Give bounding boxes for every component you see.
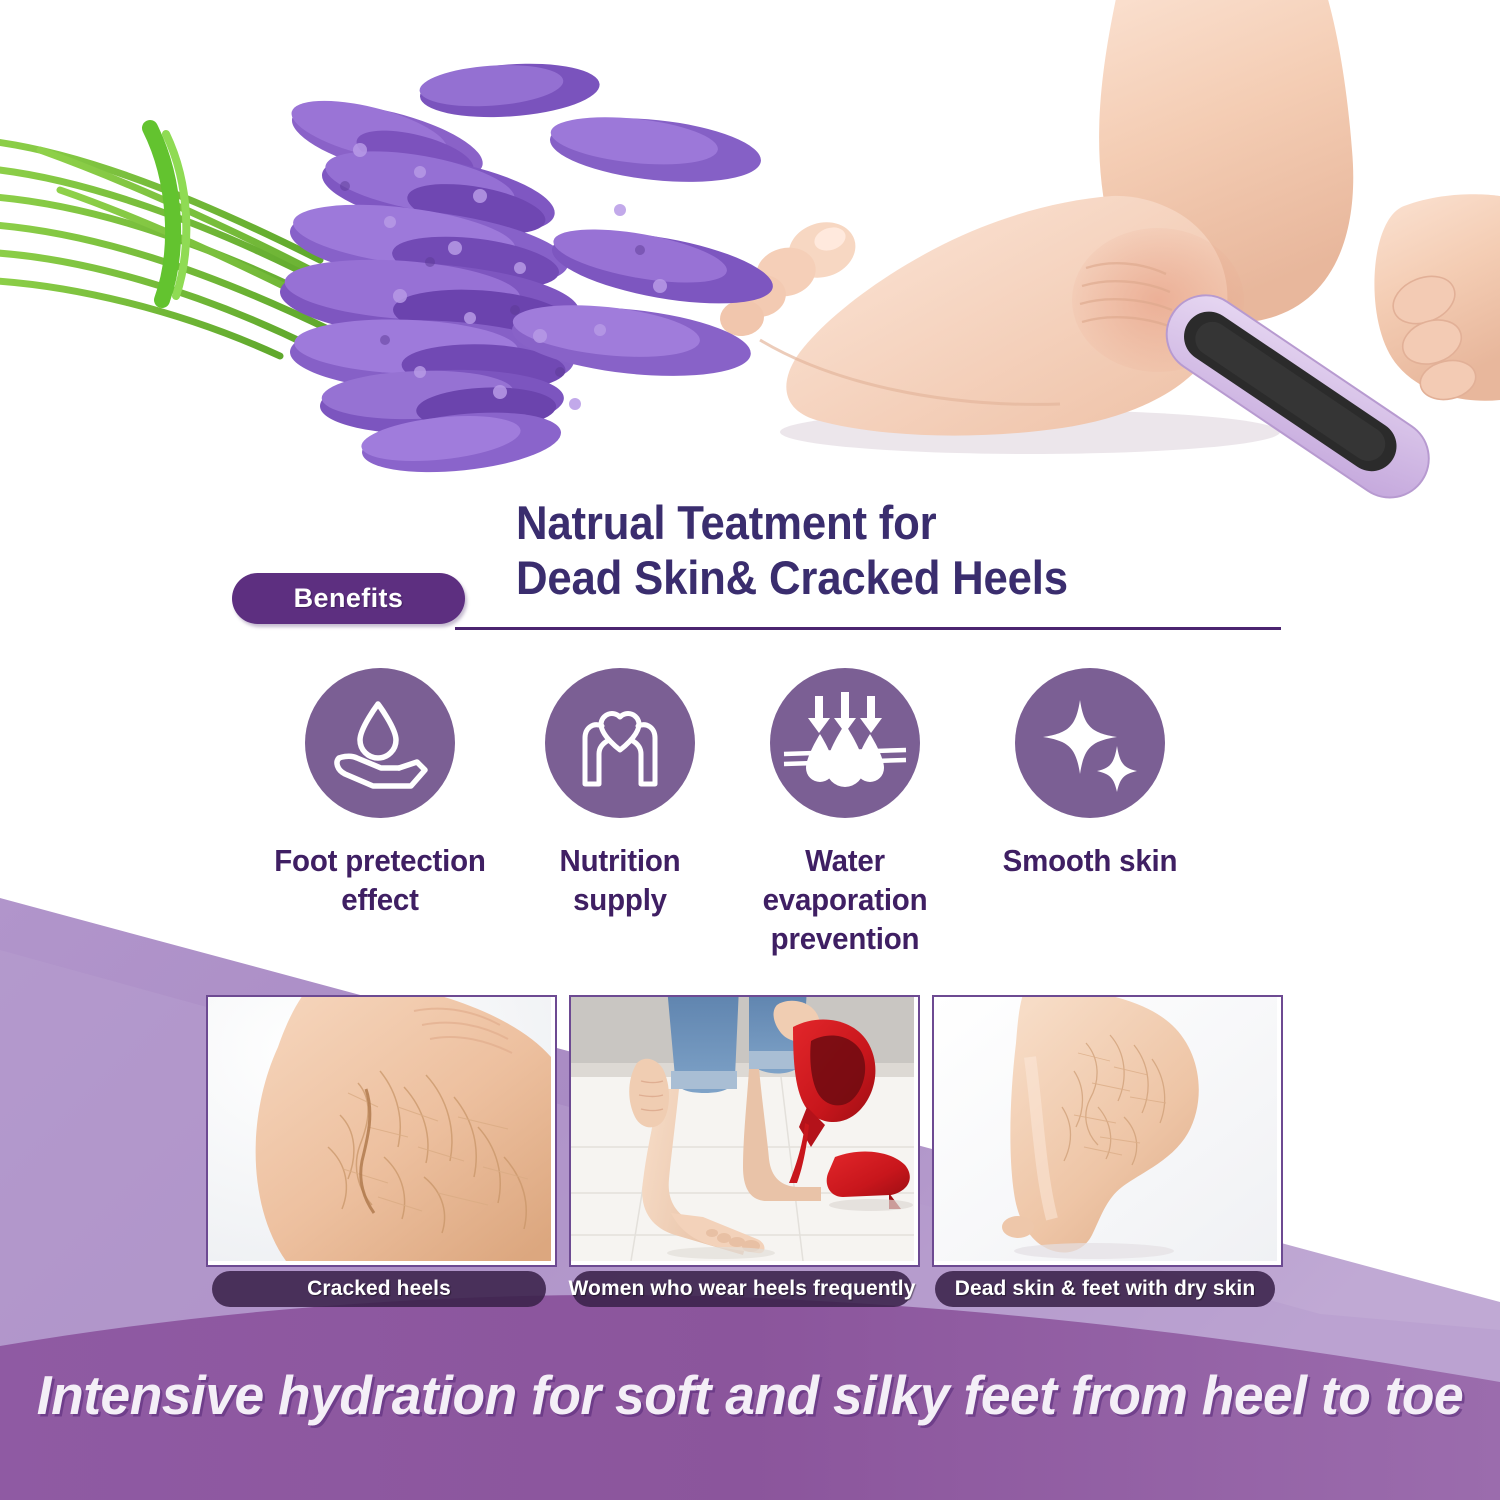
card-women-heels — [569, 995, 920, 1267]
headline-divider — [455, 627, 1281, 630]
card-caption-women-heels: Women who wear heels frequently — [572, 1271, 912, 1307]
bottom-tagline: Intensive hydration for soft and silky f… — [23, 1363, 1478, 1427]
card-dead-skin — [932, 995, 1283, 1267]
headline: Natrual Teatment for Dead Skin& Cracked … — [516, 496, 1296, 606]
benefits-badge: Benefits — [232, 573, 465, 624]
headline-line-2: Dead Skin& Cracked Heels — [516, 551, 1241, 606]
cracked-heel-closeup-photo — [208, 997, 551, 1261]
card-caption-cracked-heels: Cracked heels — [212, 1271, 546, 1307]
woman-removing-red-high-heels-photo — [571, 997, 914, 1261]
hero-image-band — [0, 0, 1500, 500]
product-infographic: Natrual Teatment for Dead Skin& Cracked … — [0, 0, 1500, 1500]
dry-flaky-heel-side-photo — [934, 997, 1277, 1261]
use-case-cards: Cracked heels Women who wear heels frequ… — [0, 995, 1500, 1315]
benefits-badge-label: Benefits — [294, 583, 404, 614]
card-cracked-heels — [206, 995, 557, 1267]
hero-illustration — [0, 0, 1500, 500]
card-caption-dead-skin: Dead skin & feet with dry skin — [935, 1271, 1275, 1307]
headline-line-1: Natrual Teatment for — [516, 496, 1241, 551]
